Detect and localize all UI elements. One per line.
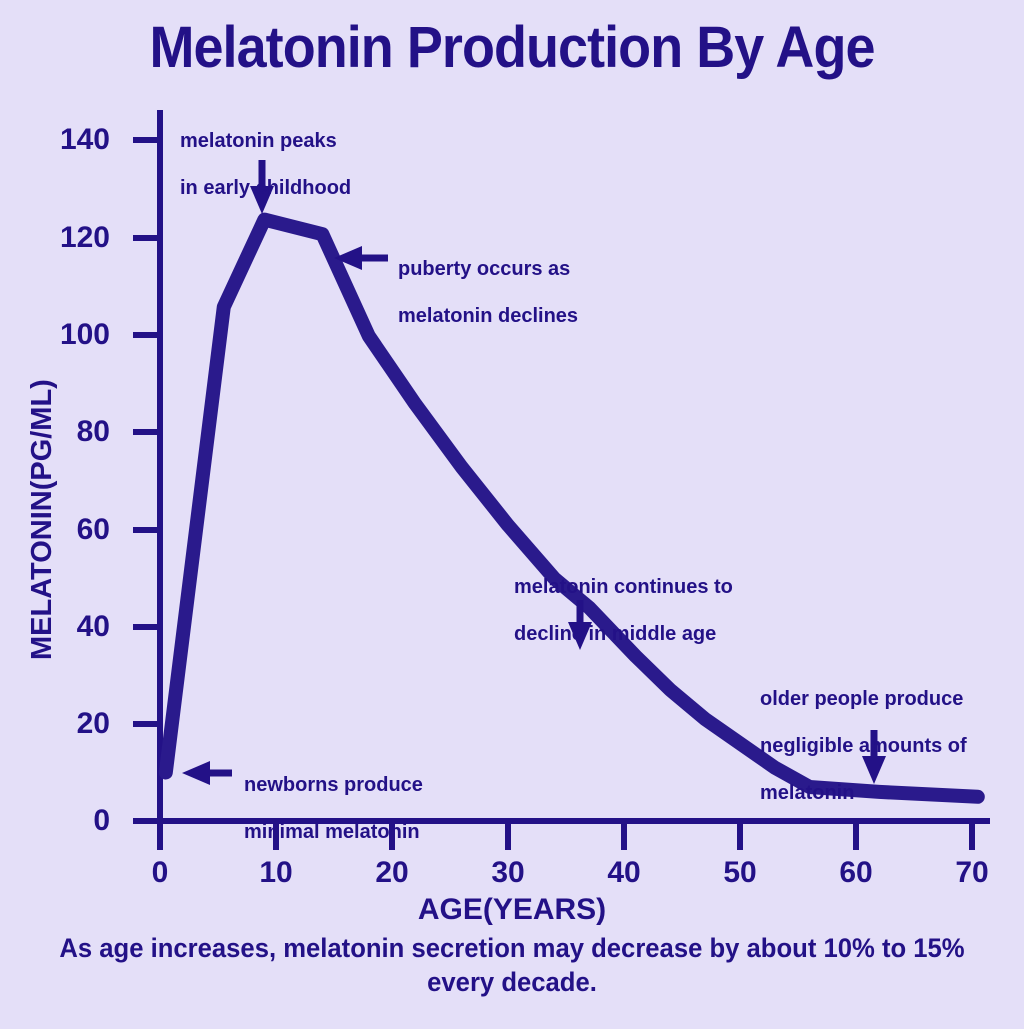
- x-tick-label-40: 40: [607, 856, 640, 890]
- y-axis-title: MELATONIN(PG/ML): [26, 379, 59, 660]
- y-tick-label-20: 20: [40, 707, 110, 741]
- caption-text: As age increases, melatonin secretion ma…: [26, 932, 999, 1000]
- annotation-older-line3: melatonin: [760, 782, 967, 806]
- y-tick-label-0: 0: [40, 804, 110, 838]
- annotation-peak: melatonin peaks in early childhood: [180, 106, 351, 224]
- y-tick-label-140: 140: [40, 123, 110, 157]
- x-tick-label-50: 50: [723, 856, 756, 890]
- annotation-puberty-line2: melatonin declines: [398, 305, 578, 329]
- annotation-arrow-newborn: [182, 761, 232, 785]
- annotation-older-line2: negligible amounts of: [760, 735, 967, 759]
- annotation-middle-age-line2: decline in middle age: [514, 623, 733, 647]
- melatonin-infographic: Melatonin Production By Age: [0, 0, 1024, 1024]
- annotation-newborn-line2: minimal melatonin: [244, 821, 423, 845]
- x-tick-label-30: 30: [491, 856, 524, 890]
- annotation-puberty-line1: puberty occurs as: [398, 258, 578, 282]
- annotation-newborn-line1: newborns produce: [244, 774, 423, 798]
- x-tick-label-70: 70: [955, 856, 988, 890]
- annotation-peak-line2: in early childhood: [180, 177, 351, 201]
- annotation-middle-age: melatonin continues to decline in middle…: [514, 552, 733, 670]
- chart-plot-area: 140 120 100 80 60 40 20 0 0 10 20 30 40 …: [0, 0, 1024, 1024]
- x-tick-label-60: 60: [839, 856, 872, 890]
- annotation-puberty: puberty occurs as melatonin declines: [398, 234, 578, 352]
- annotation-middle-age-line1: melatonin continues to: [514, 576, 733, 600]
- annotation-older-line1: older people produce: [760, 688, 967, 712]
- x-tick-label-0: 0: [152, 856, 169, 890]
- x-axis-title: AGE(YEARS): [0, 893, 1024, 927]
- y-tick-label-120: 120: [40, 221, 110, 255]
- annotation-older: older people produce negligible amounts …: [760, 664, 967, 829]
- annotation-newborn: newborns produce minimal melatonin: [244, 750, 423, 868]
- annotation-peak-line1: melatonin peaks: [180, 130, 351, 154]
- y-tick-label-100: 100: [40, 318, 110, 352]
